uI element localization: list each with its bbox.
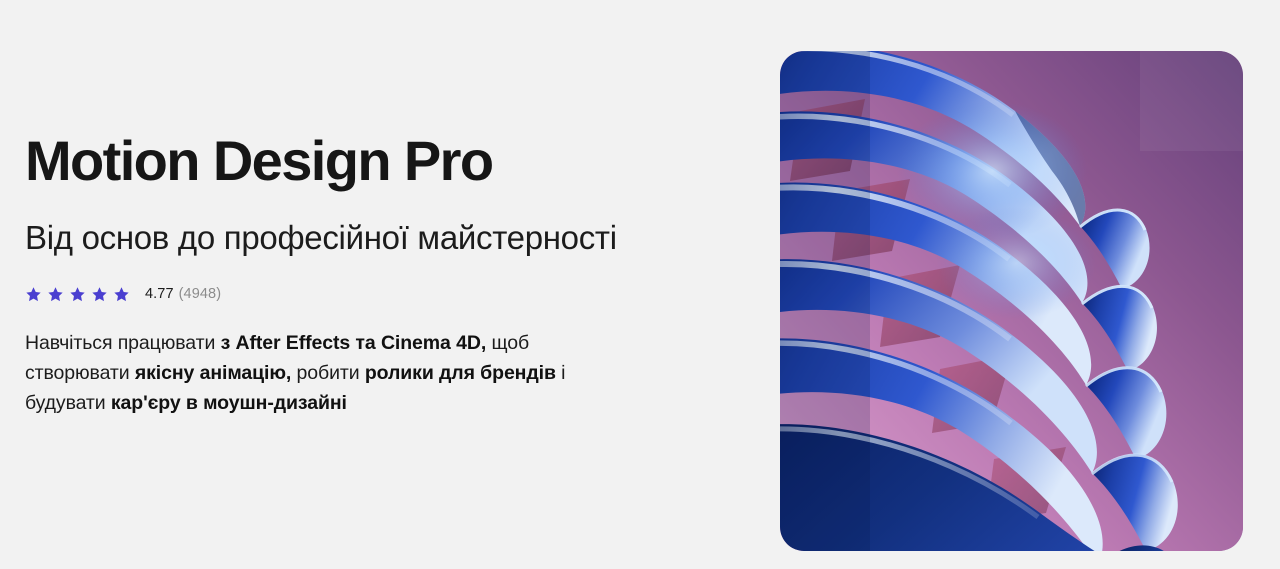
star-icon	[69, 286, 86, 303]
rating-stars	[25, 286, 130, 303]
description-emphasis: кар'єру в моушн-дизайні	[111, 392, 347, 414]
course-artwork-card	[780, 51, 1243, 551]
star-icon	[25, 286, 42, 303]
course-description: Навчіться працювати з After Effects та C…	[25, 328, 635, 418]
rating-row: 4.77 (4948)	[25, 283, 221, 305]
description-text: Навчіться працювати	[25, 332, 221, 354]
page-title: Motion Design Pro	[25, 128, 492, 194]
rating-count: (4948)	[179, 286, 222, 302]
abstract-blue-spiral-helix-image	[780, 51, 1243, 551]
description-emphasis: якісну анімацію,	[135, 362, 291, 384]
star-icon	[91, 286, 108, 303]
description-emphasis: з After Effects та Cinema 4D,	[221, 332, 487, 354]
description-emphasis: ролики для брендів	[365, 362, 556, 384]
hero-content: Motion Design Pro Від основ до професійн…	[25, 0, 725, 569]
star-icon	[113, 286, 130, 303]
rating-score: 4.77	[145, 286, 174, 302]
star-icon	[47, 286, 64, 303]
description-text: робити	[291, 362, 365, 384]
hero-page: Motion Design Pro Від основ до професійн…	[0, 0, 1280, 569]
page-subtitle: Від основ до професійної майстерності	[25, 216, 617, 260]
